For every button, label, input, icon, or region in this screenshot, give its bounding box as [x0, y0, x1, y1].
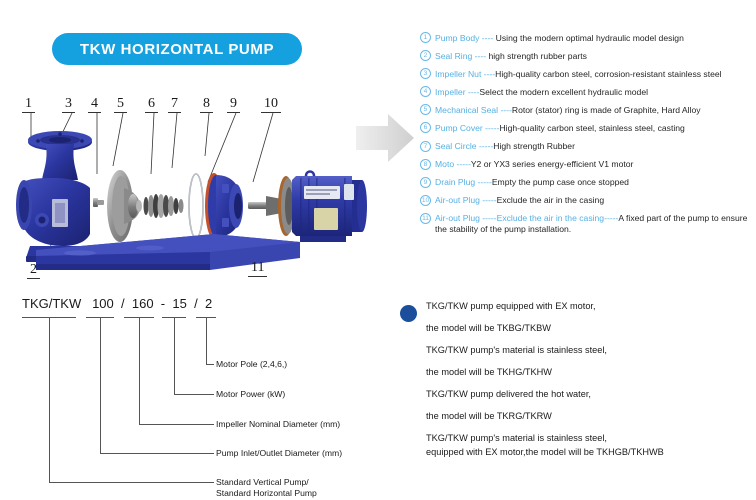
legend-number-icon: 5 — [420, 104, 431, 115]
legend-item: 3 Impeller Nut ----High-quality carbon s… — [420, 68, 756, 79]
legend-description: Rotor (stator) ring is made of Graphite,… — [512, 105, 701, 115]
callout-8: 8 — [200, 96, 213, 113]
legend-part-name: Seal Ring ---- — [435, 51, 488, 61]
callout-11: 11 — [248, 260, 267, 277]
note-line: the model will be TKRG/TKRW — [426, 410, 756, 422]
callout-9: 9 — [227, 96, 240, 113]
callout-2: 2 — [27, 262, 40, 279]
legend-number-icon: 3 — [420, 68, 431, 79]
legend-item: 4 Impeller ----Select the modern excelle… — [420, 86, 756, 97]
label-impeller-dia: Impeller Nominal Diameter (mm) — [216, 419, 340, 431]
code-segment-pole: 2 — [205, 296, 212, 311]
leader-vertical-inlet — [100, 317, 101, 453]
legend-number-icon: 4 — [420, 86, 431, 97]
legend-number-icon: 1 — [420, 32, 431, 43]
callout-5: 5 — [114, 96, 127, 113]
exploded-pump-diagram: 1 3 4 5 6 7 8 9 10 2 11 — [0, 96, 400, 286]
legend-description: Using the modern optimal hydraulic model… — [496, 33, 684, 43]
leader-vertical-power — [174, 317, 175, 394]
legend-number-icon: 11 — [420, 213, 431, 224]
legend-part-name: Drain Plug ----- — [435, 177, 492, 187]
pump-assembly-artwork — [0, 96, 400, 286]
legend-part-name: Air-out Plug -----Exclude the air in the… — [435, 213, 618, 223]
leader-vertical-series — [49, 317, 50, 482]
legend-number-icon: 7 — [420, 141, 431, 152]
legend-part-name: Impeller Nut ---- — [435, 69, 495, 79]
callout-4: 4 — [88, 96, 101, 113]
model-nomenclature: TKG/TKW 100 / 160 - 15 / 2 Motor Pole (2… — [0, 296, 400, 496]
callout-6: 6 — [145, 96, 158, 113]
legend-number-icon: 6 — [420, 122, 431, 133]
leader-horizontal-inlet — [100, 453, 214, 454]
legend-number-icon: 10 — [420, 195, 431, 206]
legend-part-name: Impeller ---- — [435, 87, 479, 97]
pump-spec-sheet: TKW HORIZONTAL PUMP — [0, 0, 756, 500]
page-title: TKW HORIZONTAL PUMP — [80, 41, 274, 58]
page-title-banner: TKW HORIZONTAL PUMP — [52, 33, 302, 65]
bullet-icon — [400, 305, 417, 322]
legend-item: 10 Air-out Plug -----Exclude the air in … — [420, 195, 756, 206]
code-segment-inlet: 100 — [92, 296, 114, 311]
legend-number-icon: 2 — [420, 50, 431, 61]
legend-part-name: Seal Circle ----- — [435, 141, 493, 151]
model-code-string: TKG/TKW 100 / 160 - 15 / 2 — [22, 296, 212, 311]
model-variant-notes: TKG/TKW pump equipped with EX motor, the… — [398, 300, 756, 468]
legend-item: 9 Drain Plug -----Empty the pump case on… — [420, 177, 756, 188]
legend-description: High-quality carbon steel, stainless ste… — [499, 123, 684, 133]
note-line: TKG/TKW pump's material is stainless ste… — [426, 432, 756, 444]
leader-vertical-pole — [206, 317, 207, 364]
legend-description: High strength Rubber — [493, 141, 575, 151]
callout-1: 1 — [22, 96, 35, 113]
code-segment-power: 15 — [172, 296, 186, 311]
note-line: the model will be TKHG/TKHW — [426, 366, 756, 378]
legend-description: High-quality carbon steel, corrosion-res… — [495, 69, 721, 79]
legend-description: Exclude the air in the casing — [497, 195, 605, 205]
legend-item: 8 Moto -----Y2 or YX3 series energy-effi… — [420, 159, 756, 170]
label-inlet-dia: Pump Inlet/Outlet Diameter (mm) — [216, 448, 342, 460]
note-line: TKG/TKW pump delivered the hot water, — [426, 388, 756, 400]
callout-7: 7 — [168, 96, 181, 113]
legend-part-name: Moto ----- — [435, 159, 471, 169]
label-pump-type-1: Standard Vertical Pump/ — [216, 477, 309, 489]
legend-item: 1 Pump Body ---- Using the modern optima… — [420, 32, 756, 43]
code-segment-impeller: 160 — [132, 296, 154, 311]
legend-item: 7 Seal Circle -----High strength Rubber — [420, 141, 756, 152]
code-separator-1: / — [121, 296, 125, 311]
label-motor-power: Motor Power (kW) — [216, 389, 285, 401]
legend-part-name: Mechanical Seal ---- — [435, 105, 512, 115]
callout-10: 10 — [261, 96, 281, 113]
code-separator-3: / — [194, 296, 198, 311]
flow-arrow-icon — [356, 112, 416, 164]
legend-number-icon: 9 — [420, 177, 431, 188]
leader-horizontal-pole — [206, 364, 214, 365]
legend-number-icon: 8 — [420, 159, 431, 170]
legend-part-name: Pump Body ---- — [435, 33, 496, 43]
parts-legend: 1 Pump Body ---- Using the modern optima… — [420, 32, 756, 242]
legend-item: 2 Seal Ring ---- high strength rubber pa… — [420, 50, 756, 61]
label-motor-pole: Motor Pole (2,4,6,) — [216, 359, 287, 371]
legend-description: Select the modern excellent hydraulic mo… — [479, 87, 648, 97]
callout-3: 3 — [62, 96, 75, 113]
label-pump-type-2: Standard Horizontal Pump — [216, 488, 317, 500]
note-line: the model will be TKBG/TKBW — [426, 322, 756, 334]
legend-description: high strength rubber parts — [488, 51, 586, 61]
legend-item: 5 Mechanical Seal ----Rotor (stator) rin… — [420, 104, 756, 115]
code-segment-series: TKG/TKW — [22, 296, 81, 311]
legend-description: Empty the pump case once stopped — [492, 177, 629, 187]
note-line: TKG/TKW pump's material is stainless ste… — [426, 344, 756, 356]
leader-horizontal-power — [174, 394, 214, 395]
legend-part-name: Air-out Plug ----- — [435, 195, 497, 205]
leader-horizontal-impeller — [139, 424, 214, 425]
code-separator-2: - — [161, 296, 165, 311]
leader-vertical-impeller — [139, 317, 140, 424]
leader-horizontal-series — [49, 482, 214, 483]
legend-description: Y2 or YX3 series energy-efficient V1 mot… — [471, 159, 634, 169]
legend-part-name: Pump Cover ----- — [435, 123, 499, 133]
legend-item: 6 Pump Cover -----High-quality carbon st… — [420, 122, 756, 133]
legend-item: 11 Air-out Plug -----Exclude the air in … — [420, 213, 756, 234]
note-line: TKG/TKW pump equipped with EX motor, — [426, 300, 756, 312]
note-line: equipped with EX motor,the model will be… — [426, 446, 756, 458]
